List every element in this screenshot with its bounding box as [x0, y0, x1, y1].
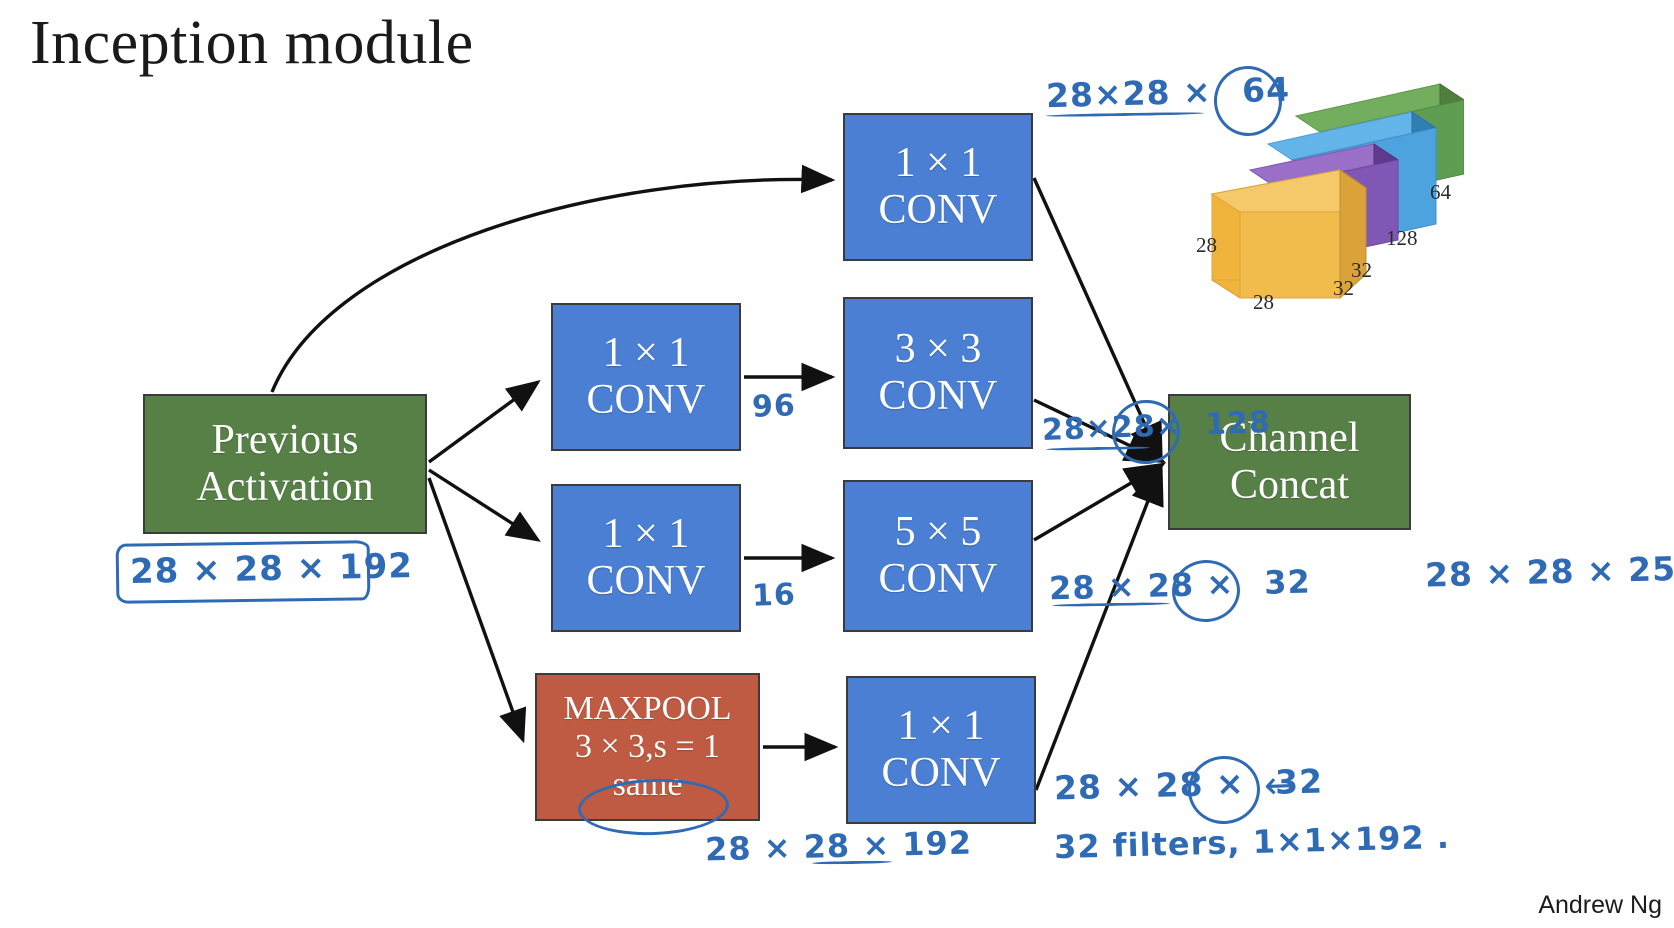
node-previous-activation[interactable]: Previous Activation [143, 394, 427, 534]
node-conv-1x1-reduce-5x5[interactable]: 1 × 1 CONV [551, 484, 741, 632]
node-label-line2: CONV [586, 558, 705, 605]
node-label-line2: CONV [878, 556, 997, 603]
volume-label-depth-d: 64 [1430, 180, 1451, 205]
node-label-line2: CONV [878, 187, 997, 234]
annotation-filters-note: 32 filters, 1×1×192 . [1054, 818, 1451, 866]
author-credit: Andrew Ng [1538, 891, 1662, 920]
volume-label-depth-b: 32 [1351, 258, 1372, 283]
node-label-line2: CONV [881, 750, 1000, 797]
node-label-line1: 1 × 1 [603, 330, 690, 377]
node-conv-5x5[interactable]: 5 × 5 CONV [843, 480, 1033, 632]
volume-label-width: 28 [1253, 290, 1274, 315]
node-label-line1: Previous [212, 417, 359, 464]
node-conv-3x3[interactable]: 3 × 3 CONV [843, 297, 1033, 449]
slide-canvas: Inception module Previous [0, 0, 1674, 928]
annotation-reduce-96: 96 [751, 388, 796, 425]
node-label-line2: 3 × 3,s = 1 [575, 728, 720, 766]
volume-label-depth-c: 128 [1386, 226, 1418, 251]
node-label-line2: Concat [1230, 462, 1349, 509]
page-title: Inception module [30, 8, 474, 79]
node-label-line1: 1 × 1 [895, 140, 982, 187]
annotation-reduce-16: 16 [751, 577, 796, 614]
annotation-input-dims: 28 × 28 × 192 [130, 546, 414, 592]
node-label-line1: MAXPOOL [563, 690, 731, 728]
node-label-line2: CONV [878, 373, 997, 420]
node-label-line2: Activation [196, 464, 373, 511]
node-label-line1: 3 × 3 [895, 326, 982, 373]
annotation-circled-value: 128 [1205, 405, 1272, 442]
annotation-concat-output: 28 × 28 × 256 [1425, 548, 1674, 594]
node-label-line1: 1 × 1 [898, 703, 985, 750]
node-label-line1: 1 × 1 [603, 511, 690, 558]
node-label-line1: 5 × 5 [895, 509, 982, 556]
node-label-line2: CONV [586, 377, 705, 424]
node-conv-1x1-after-pool[interactable]: 1 × 1 CONV [846, 676, 1036, 824]
annotation-text: 28×28 × [1046, 72, 1213, 115]
volume-label-height: 28 [1196, 233, 1217, 258]
output-volume-diagram [1196, 78, 1464, 313]
node-conv-1x1-top[interactable]: 1 × 1 CONV [843, 113, 1033, 261]
annotation-circled-value: 32 [1264, 563, 1312, 602]
node-conv-1x1-reduce-3x3[interactable]: 1 × 1 CONV [551, 303, 741, 451]
annotation-left-arrow-icon: ← [1263, 762, 1296, 807]
